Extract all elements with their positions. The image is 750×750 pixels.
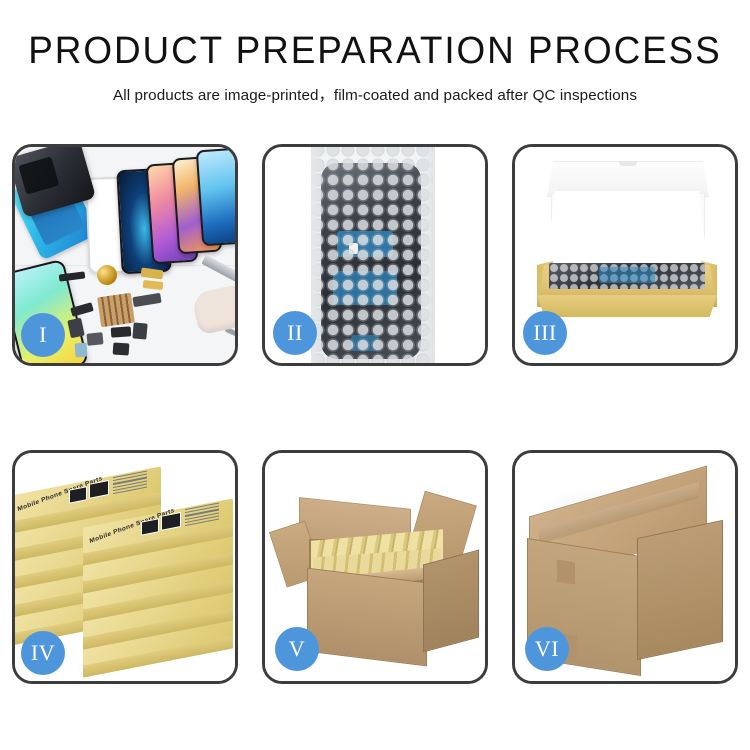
step-panel-6: VI xyxy=(512,450,738,684)
mailer-box-front-edge xyxy=(537,295,717,317)
step-badge-2: II xyxy=(273,311,317,355)
spare-part xyxy=(75,343,88,358)
label-phone-thumbnail xyxy=(89,480,109,499)
phone-device-d xyxy=(196,148,235,247)
retail-box-top-right: Mobile Phone Spare Parts xyxy=(83,513,233,553)
blue-film-marking xyxy=(599,267,655,283)
carton-handle-tab xyxy=(557,560,575,585)
label-phone-thumbnail xyxy=(69,486,87,503)
steps-grid: I II xyxy=(12,144,738,684)
chip-board xyxy=(97,293,135,327)
step-panel-5: V xyxy=(262,450,488,684)
step-badge-6: VI xyxy=(525,627,569,671)
spare-part xyxy=(111,326,132,337)
page-subtitle: All products are image-printed，film-coat… xyxy=(0,72,750,105)
step-badge-4: IV xyxy=(21,631,65,675)
carton-side-panel xyxy=(637,520,723,660)
header: PRODUCT PREPARATION PROCESS All products… xyxy=(0,0,750,105)
lid-notch xyxy=(619,161,637,166)
page-title: PRODUCT PREPARATION PROCESS xyxy=(11,0,739,72)
carton-side-panel xyxy=(423,549,479,652)
wrap-edge-right xyxy=(421,147,435,363)
step-panel-4: Mobile Phone Spare Parts xyxy=(12,450,238,684)
step-panel-1: I xyxy=(12,144,238,366)
label-phone-thumbnail xyxy=(141,518,159,535)
spare-part xyxy=(113,342,130,355)
label-phone-thumbnail xyxy=(161,512,181,531)
step-badge-5: V xyxy=(275,627,319,671)
bubble-shading xyxy=(311,147,433,363)
spare-part xyxy=(86,332,103,346)
step-panel-3: III xyxy=(512,144,738,366)
step-panel-2: II xyxy=(262,144,488,366)
product-preparation-infographic: PRODUCT PREPARATION PROCESS All products… xyxy=(0,0,750,750)
step-badge-1: I xyxy=(21,313,65,357)
spare-part xyxy=(132,322,147,339)
carton-front-panel xyxy=(307,568,427,667)
step-badge-3: III xyxy=(523,311,567,355)
